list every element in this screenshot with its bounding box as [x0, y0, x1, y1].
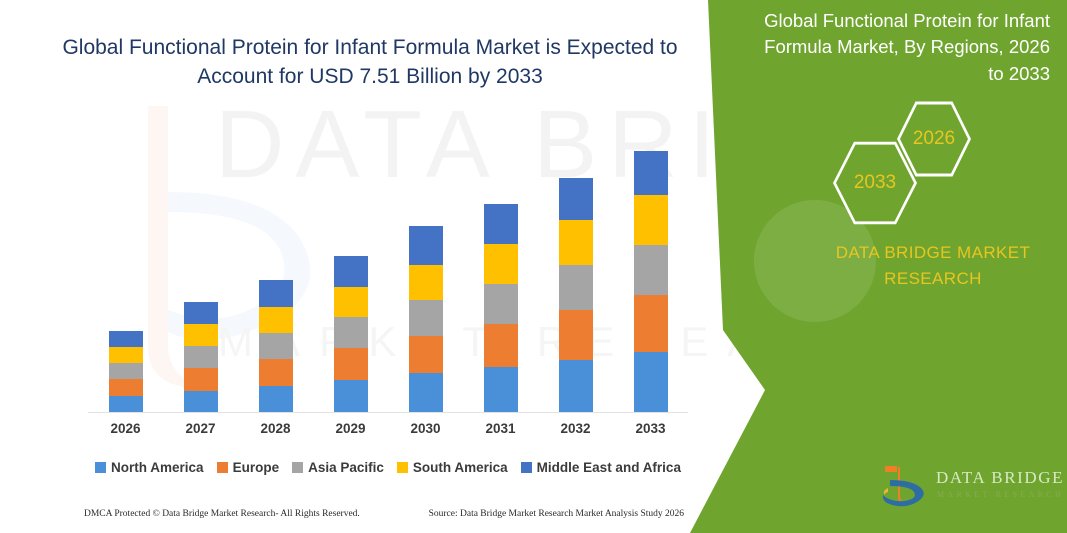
bar-segment	[634, 295, 668, 352]
bar-segment	[409, 300, 443, 336]
bar-segment	[409, 226, 443, 265]
x-tick-2029: 2029	[317, 421, 385, 443]
bar-segment	[109, 363, 143, 379]
legend-label: Middle East and Africa	[537, 460, 681, 475]
company-logo-tagline: MARKET RESEARCH	[937, 490, 1064, 499]
bar-segment	[484, 204, 518, 244]
bar-segment	[409, 336, 443, 373]
hexagon-label-2033: 2033	[854, 172, 896, 194]
bar-segment	[184, 324, 218, 346]
sidebar-title: Global Functional Protein for Infant For…	[745, 8, 1050, 87]
bar-column-2029	[317, 256, 385, 412]
sidebar-brand-line1: DATA BRIDGE MARKET	[788, 240, 1067, 266]
bar-segment	[334, 256, 368, 287]
legend-item[interactable]: Europe	[217, 460, 280, 475]
x-tick-2028: 2028	[242, 421, 310, 443]
legend-swatch-icon	[292, 462, 303, 473]
bar-segment	[184, 346, 218, 368]
x-tick-2032: 2032	[542, 421, 610, 443]
legend-swatch-icon	[217, 462, 228, 473]
bar-segment	[334, 317, 368, 348]
sidebar-brand-line2: RESEARCH	[788, 266, 1067, 292]
bar-segment	[559, 178, 593, 220]
bar-segment	[334, 380, 368, 412]
bar-segment	[484, 324, 518, 367]
legend-item[interactable]: North America	[95, 460, 204, 475]
bar-segment	[259, 333, 293, 359]
bar-segment	[259, 280, 293, 307]
bar-segment	[484, 284, 518, 324]
legend-item[interactable]: Middle East and Africa	[521, 460, 681, 475]
legend-label: North America	[111, 460, 204, 475]
x-tick-2026: 2026	[92, 421, 160, 443]
legend-label: Asia Pacific	[308, 460, 384, 475]
bar-column-2026	[92, 331, 160, 412]
bar-segment	[634, 195, 668, 245]
bar-segment	[184, 368, 218, 391]
bar-segment	[559, 310, 593, 360]
bar-segment	[109, 379, 143, 396]
sidebar-brand-text: DATA BRIDGE MARKET RESEARCH	[788, 240, 1067, 293]
bar-column-2031	[467, 204, 535, 412]
bar-column-2028	[242, 280, 310, 412]
bar-segment	[559, 220, 593, 265]
bar-segment	[559, 265, 593, 310]
footer: DMCA Protected © Data Bridge Market Rese…	[84, 506, 684, 522]
x-tick-2027: 2027	[167, 421, 235, 443]
infographic-canvas: DATA BRIDGE MARKET RESEARCH Global Funct…	[0, 0, 1067, 533]
x-tick-2031: 2031	[467, 421, 535, 443]
bar-segment	[259, 359, 293, 386]
legend-label: South America	[413, 460, 508, 475]
bar-chart-plot	[88, 120, 688, 412]
legend-swatch-icon	[397, 462, 408, 473]
company-logo: DATA BRIDGE MARKET RESEARCH	[880, 462, 1055, 514]
bar-column-2033	[617, 151, 685, 412]
bar-column-2030	[392, 226, 460, 412]
data-bridge-b-logo-icon	[880, 464, 928, 510]
bar-segment	[634, 151, 668, 195]
legend-item[interactable]: Asia Pacific	[292, 460, 384, 475]
bar-segment	[634, 352, 668, 412]
bar-segment	[334, 348, 368, 380]
legend-swatch-icon	[95, 462, 106, 473]
bar-segment	[259, 307, 293, 333]
bar-segment	[634, 245, 668, 295]
bar-segment	[334, 287, 368, 317]
page-title: Global Functional Protein for Infant For…	[60, 34, 680, 92]
x-axis-line	[88, 412, 688, 413]
footer-copyright: DMCA Protected © Data Bridge Market Rese…	[84, 509, 360, 519]
hexagon-label-2026: 2026	[913, 128, 955, 150]
legend-label: Europe	[233, 460, 280, 475]
x-tick-2030: 2030	[392, 421, 460, 443]
x-axis-tick-labels: 20262027202820292030203120322033	[88, 421, 688, 443]
bar-segment	[109, 347, 143, 363]
bar-segment	[184, 391, 218, 412]
footer-source: Source: Data Bridge Market Research Mark…	[429, 509, 684, 519]
bar-segment	[259, 386, 293, 412]
legend-swatch-icon	[521, 462, 532, 473]
bar-segment	[109, 396, 143, 412]
company-logo-name: DATA BRIDGE	[936, 468, 1064, 488]
bar-segment	[109, 331, 143, 347]
bar-segment	[184, 302, 218, 324]
chart-legend: North AmericaEuropeAsia PacificSouth Ame…	[88, 456, 688, 478]
bar-column-2027	[167, 302, 235, 412]
bar-segment	[559, 360, 593, 412]
hexagon-badge-2026: 2026	[897, 100, 971, 178]
x-tick-2033: 2033	[617, 421, 685, 443]
bar-column-2032	[542, 178, 610, 412]
legend-item[interactable]: South America	[397, 460, 508, 475]
bar-segment	[409, 265, 443, 300]
bar-segment	[409, 373, 443, 412]
bar-segment	[484, 244, 518, 284]
bar-segment	[484, 367, 518, 412]
